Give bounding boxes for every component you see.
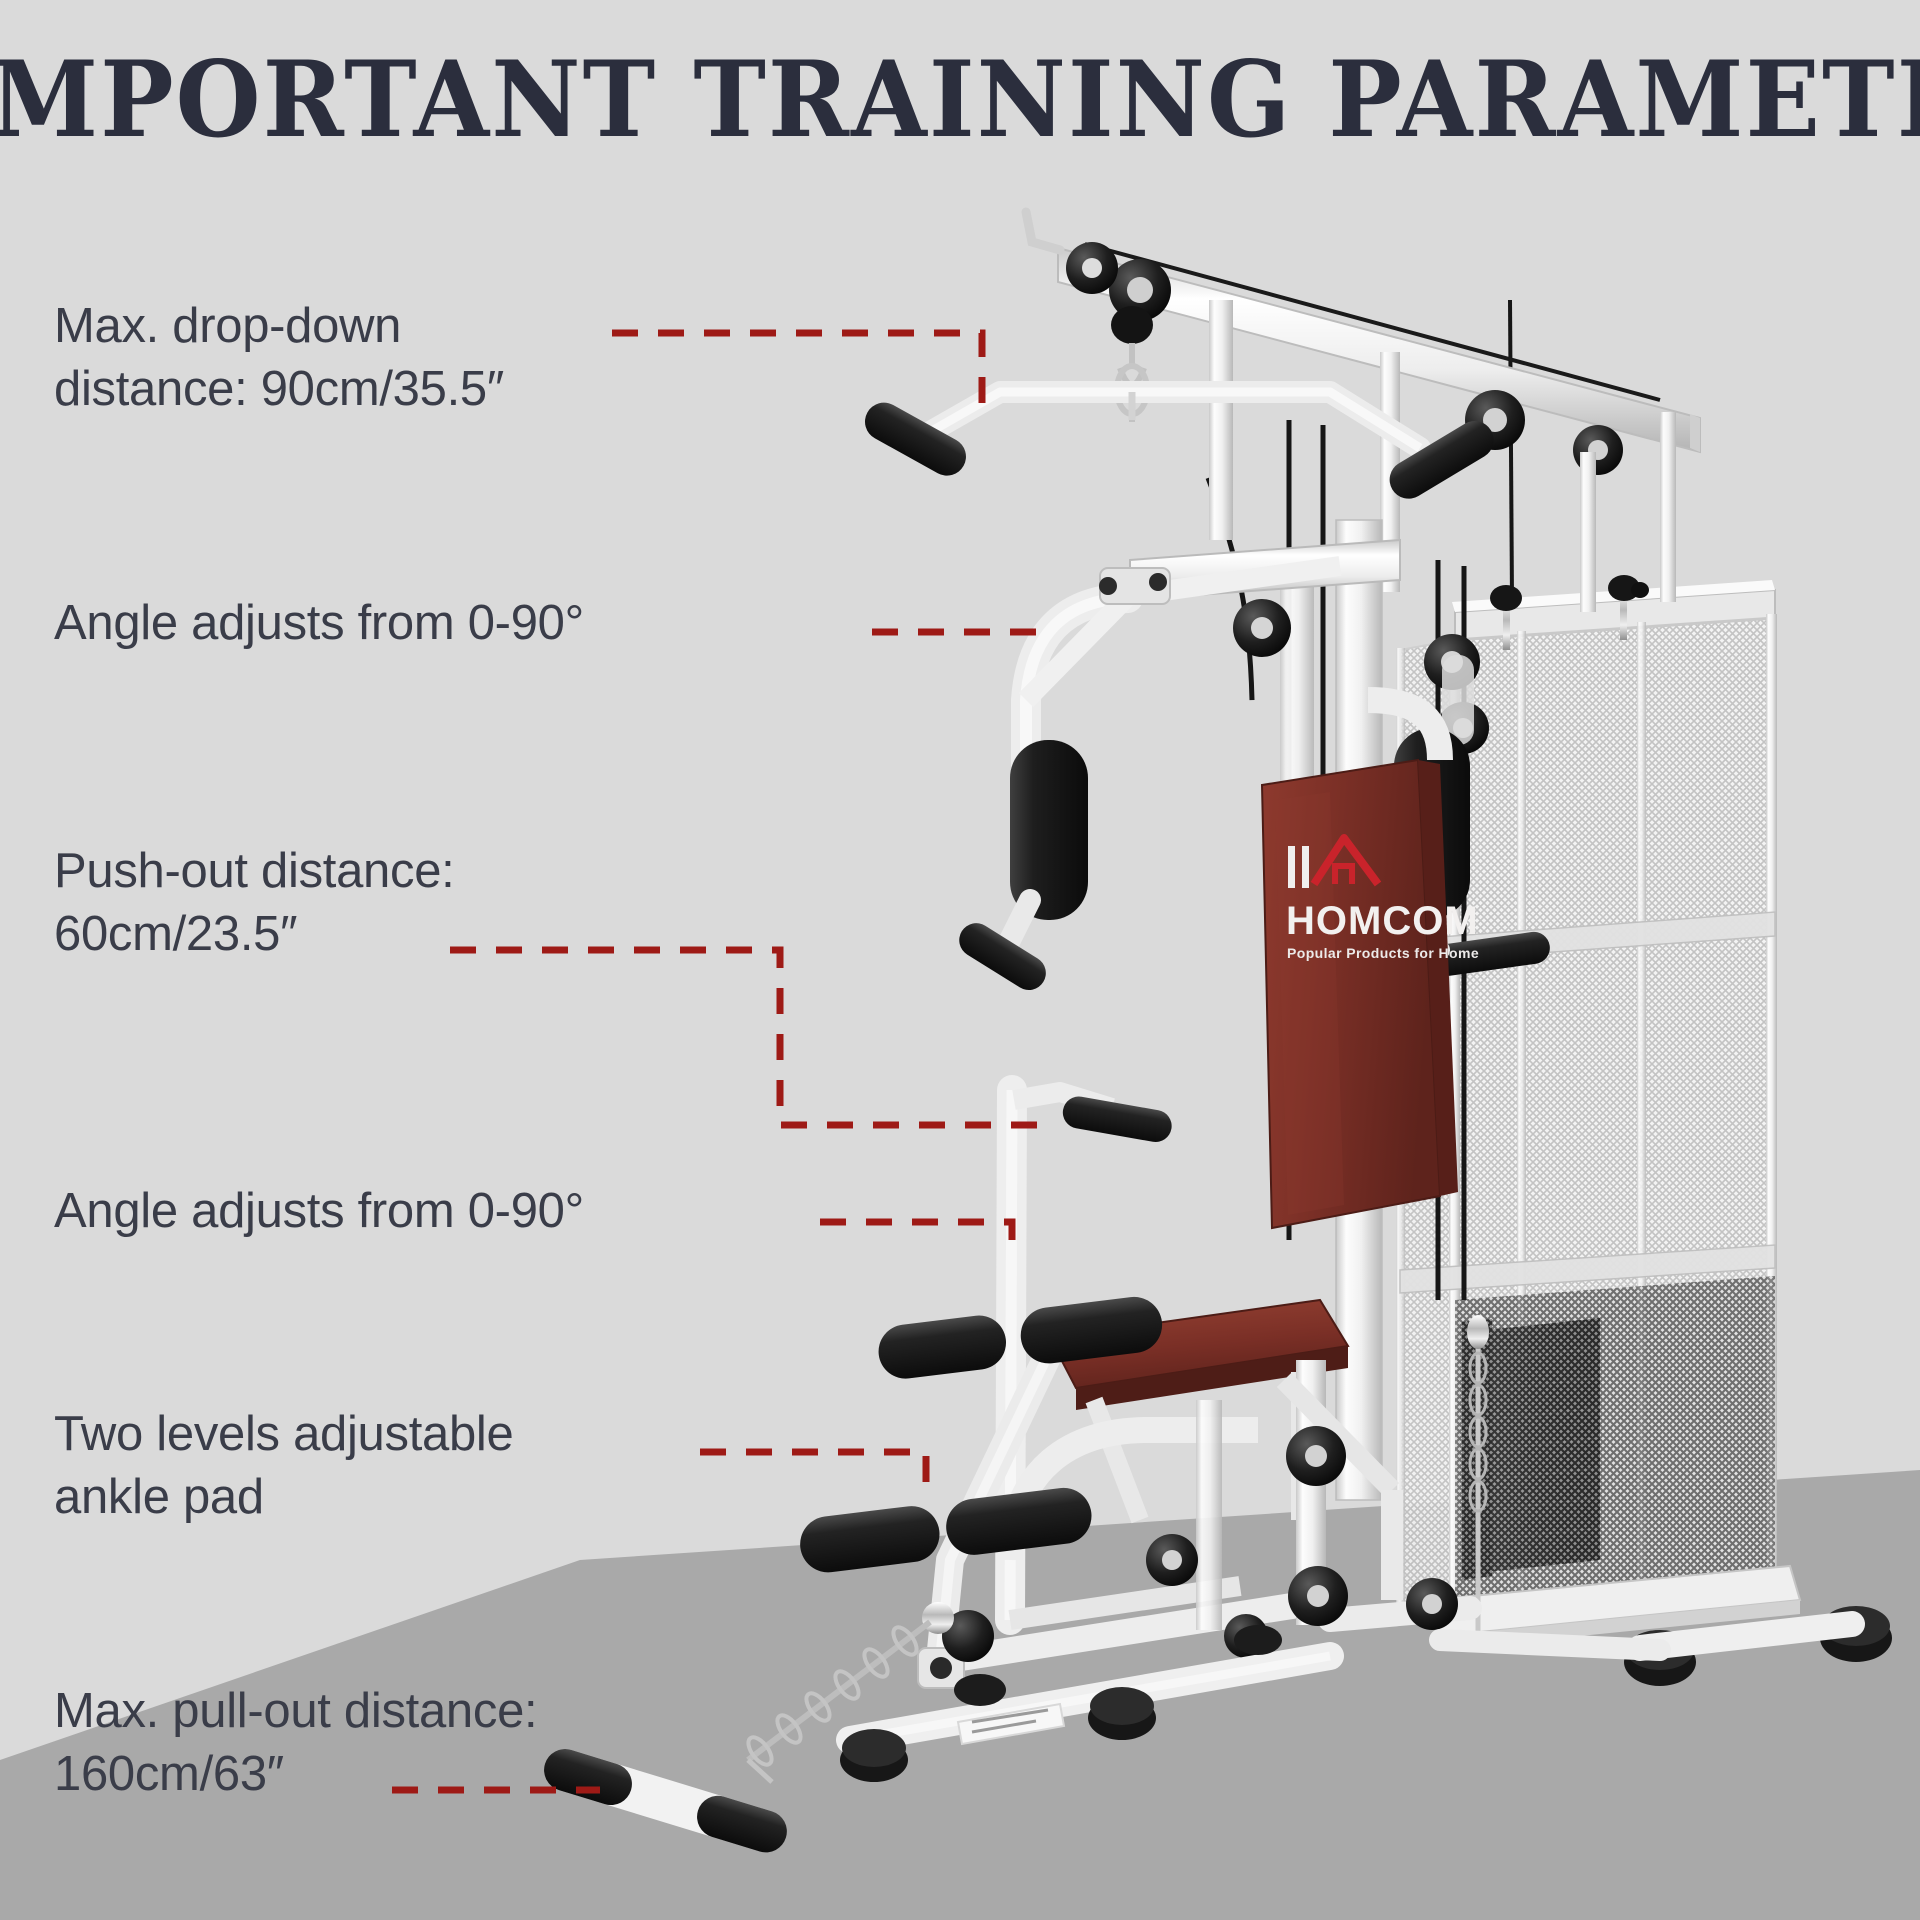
lat-pulldown-bar [858,392,1501,506]
svg-text:Popular Products for Home: Popular Products for Home [1287,945,1479,961]
svg-text:HOMCOM: HOMCOM [1286,899,1479,943]
callout-two-levels-adjustable-ankle-pad: Two levels adjustable ankle pad [54,1403,513,1528]
pull-handle-bar [539,1744,792,1858]
base-frame [840,1606,1892,1782]
ankle-pad-upper-front [875,1312,1009,1381]
ankle-pad-lower-front [797,1503,943,1576]
callout-max-pull-out-distance: Max. pull-out distance: 160cm/63″ [54,1680,537,1805]
callout-push-out-distance: Push-out distance: 60cm/23.5″ [54,840,454,965]
infographic-canvas: HOMCOM Popular Products for Home [0,0,1920,1920]
callout-angle-adjusts-lower: Angle adjusts from 0-90° [54,1180,584,1243]
page-title: IMPORTANT TRAINING PARAMETERS [0,38,1920,161]
callout-angle-adjusts-upper: Angle adjusts from 0-90° [54,592,584,655]
callout-max-drop-down-distance: Max. drop-down distance: 90cm/35.5″ [54,295,504,420]
